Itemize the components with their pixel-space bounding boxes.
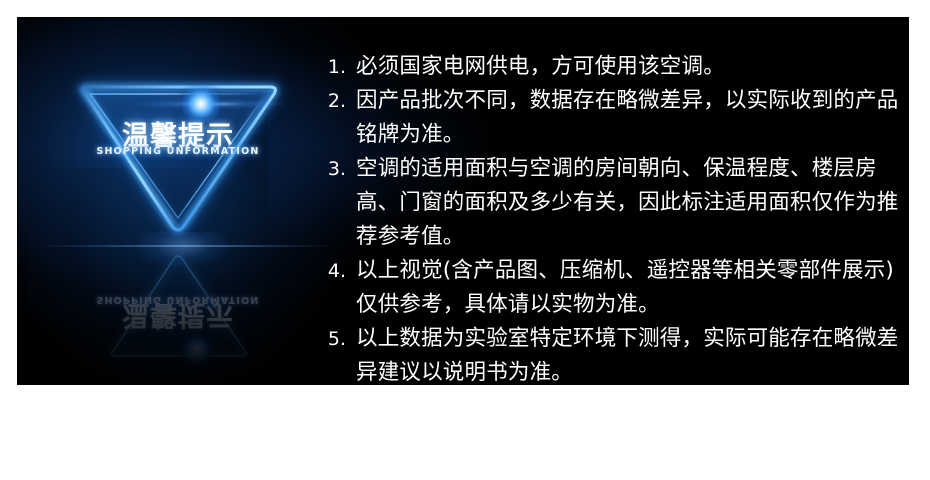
tips-badge: 温馨提示 SHOPPING UNFORMATION [38,28,318,243]
notice-text-5: 以上数据为实验室特定环境下测得，实际可能存在略微差异建议以说明书为准。 [356,322,905,384]
notice-list: 1. 必须国家电网供电，方可使用该空调。 2. 因产品批次不同，数据存在略微差异… [310,50,905,384]
notice-text-4: 以上视觉(含产品图、压缩机、遥控器等相关零部件展示) 仅供参考，具体请以实物为准… [356,254,905,322]
notice-number-5: 5. [310,322,356,356]
badge-subtitle-reflection: SHOPPING UNFORMATION [38,294,318,305]
notice-text-1: 必须国家电网供电，方可使用该空调。 [356,50,905,84]
notice-number-2: 2. [310,84,356,118]
notice-text-2: 因产品批次不同，数据存在略微差异，以实际收到的产品铭牌为准。 [356,84,905,152]
badge-title-reflection: 温馨提示 [38,298,318,337]
notice-item-1: 1. 必须国家电网供电，方可使用该空调。 [310,50,905,84]
notice-item-2: 2. 因产品批次不同，数据存在略微差异，以实际收到的产品铭牌为准。 [310,84,905,152]
notice-text-3: 空调的适用面积与空调的房间朝向、保温程度、楼层房高、门窗的面积及多少有关，因此标… [356,152,905,254]
badge-subtitle: SHOPPING UNFORMATION [38,146,318,157]
notice-item-4: 4. 以上视觉(含产品图、压缩机、遥控器等相关零部件展示) 仅供参考，具体请以实… [310,254,905,322]
reflection-ground-line [36,245,336,247]
notice-number-4: 4. [310,254,356,288]
notice-number-1: 1. [310,50,356,84]
notice-item-5: 5. 以上数据为实验室特定环境下测得，实际可能存在略微差异建议以说明书为准。 [310,322,905,384]
notice-panel: 温馨提示 SHOPPING UNFORMATION 温馨提示 SHOPPING … [18,18,908,384]
spark-reflection-icon [180,333,214,367]
badge-reflection: 温馨提示 SHOPPING UNFORMATION [38,247,318,384]
triangle-reflection-icon [38,247,318,384]
notice-number-3: 3. [310,152,356,186]
notice-item-3: 3. 空调的适用面积与空调的房间朝向、保温程度、楼层房高、门窗的面积及多少有关，… [310,152,905,254]
notice-page: 温馨提示 SHOPPING UNFORMATION 温馨提示 SHOPPING … [0,0,930,480]
